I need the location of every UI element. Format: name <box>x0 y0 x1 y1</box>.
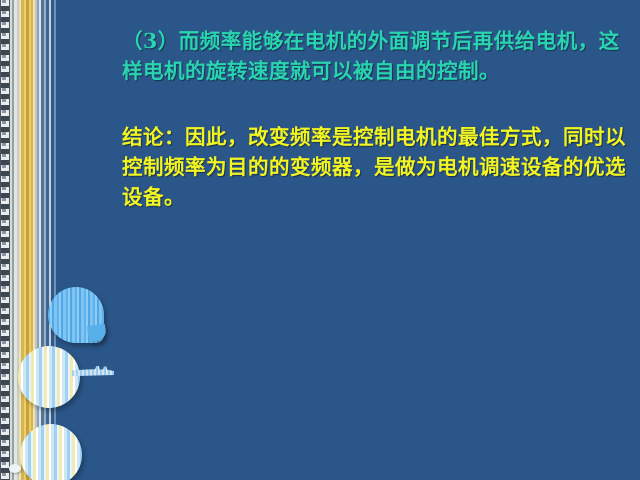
presentation-slide: （3）而频率能够在电机的外面调节后再供给电机，这样电机的旋转速度就可以被自由的控… <box>0 0 640 480</box>
slide-text-content: （3）而频率能够在电机的外面调节后再供给电机，这样电机的旋转速度就可以被自由的控… <box>96 26 630 212</box>
striped-circle-bottom-icon <box>20 424 82 480</box>
speech-bubble-tail-icon <box>87 324 107 342</box>
film-strip-perforations <box>2 0 6 480</box>
left-decorative-band <box>0 0 58 480</box>
paragraph-conclusion: 结论：因此，改变频率是控制电机的最佳方式，同时以控制频率为目的的变频器，是做为电… <box>96 122 630 212</box>
small-dot-icon <box>9 464 21 473</box>
striped-circle-icon <box>18 346 80 408</box>
paragraph-point-3: （3）而频率能够在电机的外面调节后再供给电机，这样电机的旋转速度就可以被自由的控… <box>96 26 630 86</box>
film-strip-edge <box>0 0 10 480</box>
